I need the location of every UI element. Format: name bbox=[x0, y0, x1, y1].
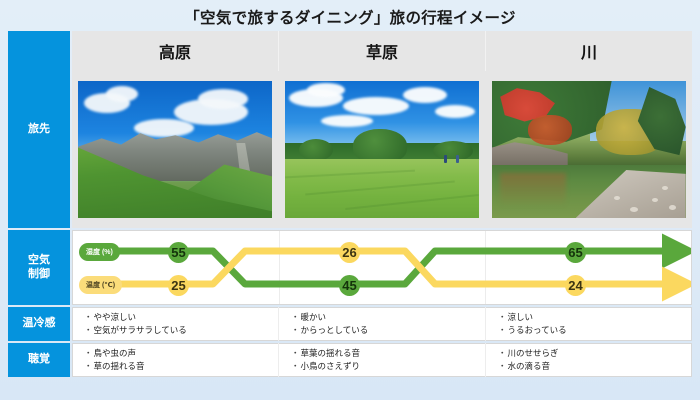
cloud-shape bbox=[307, 83, 345, 97]
photo-cell-river bbox=[485, 71, 692, 228]
pebble-shape bbox=[662, 186, 668, 190]
person-shape bbox=[444, 155, 447, 163]
highland-mountain-photo bbox=[78, 81, 272, 218]
hearing-cell-grassland: 草葉の揺れる音 小鳥のさえずり bbox=[278, 343, 485, 377]
bullet-item: 暖かい bbox=[291, 311, 485, 324]
hearing-cell-highland: 鳥や虫の声 草の揺れる音 bbox=[72, 343, 278, 377]
page-title: 「空気で旅するダイニング」旅の行程イメージ bbox=[0, 4, 700, 30]
thermal-cell-grassland: 暖かい からっとしている bbox=[278, 307, 485, 341]
river-autumn-photo bbox=[492, 81, 686, 218]
bullet-item: うるおっている bbox=[498, 324, 692, 337]
grassland-lawn-photo bbox=[285, 81, 479, 218]
air-control-line1: 空気 bbox=[28, 254, 50, 266]
temperature-value-grassland: 26 bbox=[339, 242, 360, 263]
pebble-shape bbox=[614, 196, 620, 200]
cloud-shape bbox=[198, 89, 248, 109]
cloud-shape bbox=[343, 97, 409, 115]
humidity-value-highland: 55 bbox=[168, 242, 189, 263]
humidity-value-river: 65 bbox=[565, 242, 586, 263]
destination-photo-row bbox=[72, 71, 692, 228]
slide-canvas: 「空気で旅するダイニング」旅の行程イメージ 旅先 空気 制御 温冷感 聴覚 高原… bbox=[0, 0, 700, 400]
photo-cell-grassland bbox=[279, 71, 486, 228]
cloud-shape bbox=[403, 87, 447, 103]
tree-shape bbox=[433, 141, 473, 161]
row-label-air-control: 空気 制御 bbox=[8, 230, 70, 305]
chart-lines-svg bbox=[73, 231, 691, 304]
comparison-table: 旅先 空気 制御 温冷感 聴覚 高原 草原 川 bbox=[8, 31, 692, 379]
air-control-chart: 湿度 (%) 温度 (℃) 55 25 26 45 65 24 bbox=[73, 231, 691, 304]
bullet-item: 小鳥のさえずり bbox=[291, 360, 485, 373]
temperature-value-river: 24 bbox=[565, 275, 586, 296]
hearing-bullet-row: 鳥や虫の声 草の揺れる音 草葉の揺れる音 小鳥のさえずり 川のせせらぎ 水の滴る… bbox=[72, 343, 692, 377]
bullet-item: 鳥や虫の声 bbox=[84, 347, 278, 360]
cloud-shape bbox=[106, 86, 138, 102]
photo-cell-highland bbox=[72, 71, 279, 228]
pebble-shape bbox=[652, 198, 658, 202]
column-header-row: 高原 草原 川 bbox=[72, 31, 692, 71]
air-control-line2: 制御 bbox=[28, 268, 50, 280]
bullet-item: 空気がサラサラしている bbox=[84, 324, 278, 337]
legend-humidity-pill: 湿度 (%) bbox=[79, 243, 120, 261]
humidity-value-grassland: 45 bbox=[339, 275, 360, 296]
cloud-shape bbox=[134, 119, 194, 137]
thermal-bullet-row: やや涼しい 空気がサラサラしている 暖かい からっとしている 涼しい うるおって… bbox=[72, 307, 692, 341]
column-header-highland: 高原 bbox=[72, 31, 278, 71]
water-reflection-shape bbox=[500, 173, 566, 207]
pebble-shape bbox=[630, 207, 638, 212]
bullet-item: 川のせせらぎ bbox=[498, 347, 692, 360]
tree-shape bbox=[299, 139, 333, 161]
bullet-item: 水の滴る音 bbox=[498, 360, 692, 373]
air-control-pane: 湿度 (%) 温度 (℃) 55 25 26 45 65 24 bbox=[72, 230, 692, 305]
thermal-cell-highland: やや涼しい 空気がサラサラしている bbox=[72, 307, 278, 341]
row-label-hearing: 聴覚 bbox=[8, 343, 70, 377]
cloud-shape bbox=[435, 105, 475, 118]
row-label-thermal-text: 温冷感 bbox=[23, 317, 56, 331]
bullet-item: からっとしている bbox=[291, 324, 485, 337]
bullet-item: 草葉の揺れる音 bbox=[291, 347, 485, 360]
legend-temperature-pill: 温度 (℃) bbox=[79, 276, 122, 294]
pebble-shape bbox=[669, 205, 676, 210]
bullet-item: やや涼しい bbox=[84, 311, 278, 324]
row-label-air-control-text: 空気 制御 bbox=[28, 254, 50, 282]
hearing-cell-river: 川のせせらぎ 水の滴る音 bbox=[485, 343, 692, 377]
column-header-river: 川 bbox=[485, 31, 692, 71]
bullet-item: 涼しい bbox=[498, 311, 692, 324]
row-label-hearing-text: 聴覚 bbox=[28, 353, 50, 367]
row-label-thermal: 温冷感 bbox=[8, 307, 70, 341]
big-tree-shape bbox=[353, 129, 407, 163]
orange-maple-shape bbox=[528, 115, 572, 145]
person-shape bbox=[456, 155, 459, 163]
column-header-grassland: 草原 bbox=[278, 31, 485, 71]
row-label-destination-text: 旅先 bbox=[28, 123, 50, 137]
temperature-value-highland: 25 bbox=[168, 275, 189, 296]
thermal-cell-river: 涼しい うるおっている bbox=[485, 307, 692, 341]
cloud-shape bbox=[321, 115, 373, 127]
row-label-destination: 旅先 bbox=[8, 31, 70, 228]
bullet-item: 草の揺れる音 bbox=[84, 360, 278, 373]
